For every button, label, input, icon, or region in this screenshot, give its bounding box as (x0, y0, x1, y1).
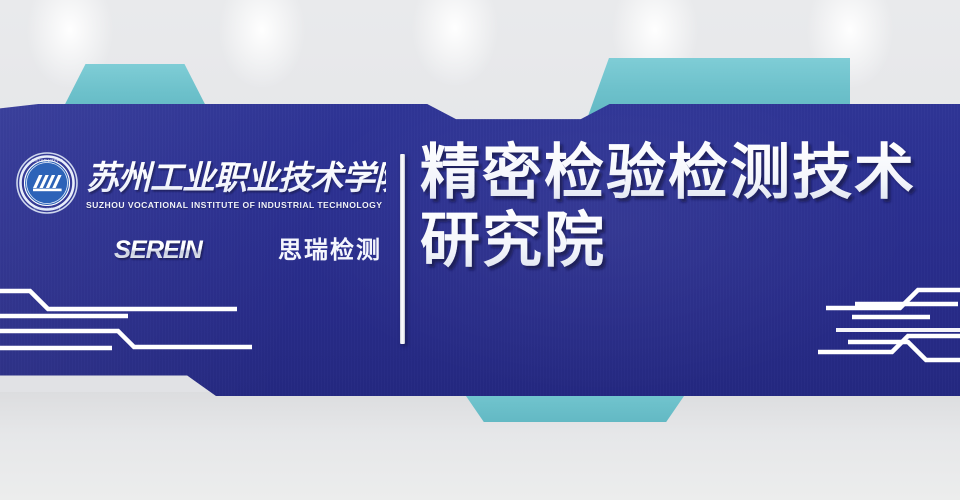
signboard-content: 苏州工业职业技术学院 SUZHOU INSTITUTE (0, 104, 960, 396)
suzhou-institute-emblem: 苏州工业职业技术学院 SUZHOU INSTITUTE (16, 152, 78, 214)
partner-name-cn: 思瑞检测 (278, 236, 390, 262)
svg-text:苏州工业职业技术学院: 苏州工业职业技术学院 (32, 157, 63, 162)
svg-text:SEREIN: SEREIN (114, 236, 204, 262)
partner-brand-row: SEREIN 思瑞检测 (114, 236, 396, 262)
institute-title-line1: 精密检验检测技术 (420, 140, 950, 206)
svg-text:SUZHOU INSTITUTE: SUZHOU INSTITUTE (33, 208, 60, 211)
university-name-en: SUZHOU VOCATIONAL INSTITUTE OF INDUSTRIA… (86, 200, 386, 210)
institute-title-line2: 研究院 (420, 208, 950, 274)
institute-title: 精密检验检测技术 研究院 (420, 140, 950, 274)
svg-text:精密检验检测技术: 精密检验检测技术 (420, 140, 916, 206)
svg-text:苏州工业职业技术学院: 苏州工业职业技术学院 (86, 160, 386, 197)
university-name-cn: 苏州工业职业技术学院 (86, 157, 386, 199)
university-name-group: 苏州工业职业技术学院 SUZHOU VOCATIONAL INSTITUTE O… (86, 157, 386, 210)
university-branding-block: 苏州工业职业技术学院 SUZHOU INSTITUTE (16, 152, 396, 262)
serein-wordmark: SEREIN (114, 236, 264, 262)
svg-text:思瑞检测: 思瑞检测 (278, 236, 382, 262)
university-row: 苏州工业职业技术学院 SUZHOU INSTITUTE (16, 152, 396, 214)
svg-text:研究院: 研究院 (420, 208, 606, 274)
vertical-rule (400, 154, 405, 344)
signage-scene: 苏州工业职业技术学院 SUZHOU INSTITUTE (0, 0, 960, 500)
